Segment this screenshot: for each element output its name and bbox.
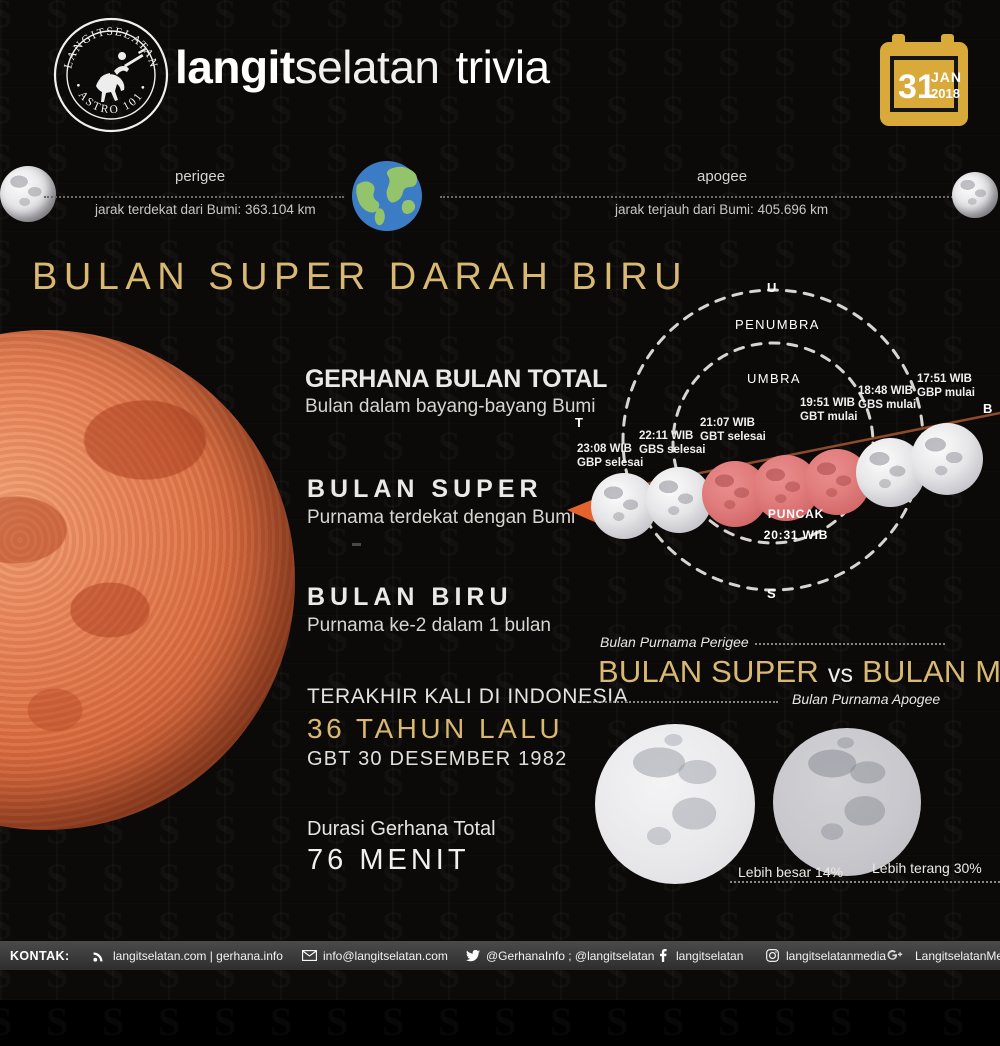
apogee-distance-line: [440, 196, 960, 198]
langitselatan-logo: LANGITSELATAN • ASTRO 101 •: [52, 16, 170, 134]
googleplus-icon: [885, 949, 909, 962]
compare-notes-dash: [730, 881, 1000, 883]
point-s-label: S: [767, 586, 776, 601]
perigee-moon-icon: [0, 166, 56, 222]
svg-text:JAN: JAN: [931, 69, 962, 85]
fact-sub: Purnama ke-2 dalam 1 bulan: [307, 615, 551, 637]
super-moon-disc: [595, 724, 755, 884]
brand-part-trivia: trivia: [456, 41, 550, 93]
perigee-distance-line: [44, 196, 344, 198]
facebook-icon: [655, 949, 670, 962]
phase-label-17-51: 17:51 WIBGBP mulai: [917, 373, 975, 400]
compare-bottom-caption: Bulan Purnama Apogee: [792, 691, 940, 707]
earth-icon: [352, 161, 422, 231]
footer-item-website[interactable]: langitselatan.com | gerhana.info: [92, 949, 283, 963]
svg-text:LANGITSELATAN: LANGITSELATAN: [62, 26, 159, 70]
peak-label: PUNCAK: [750, 507, 842, 521]
phase-label-21-07: 21:07 WIBGBT selesai: [700, 417, 766, 444]
eclipse-path-diagram: U S T B PENUMBRA UMBRA 23:08 WIBGBP sele…: [555, 275, 1000, 615]
eclipse-moon-17-51: [911, 423, 983, 495]
fact-bulan-biru: BULAN BIRU Purnama ke-2 dalam 1 bulan: [307, 583, 551, 637]
duration-heading: Durasi Gerhana Total: [307, 818, 496, 841]
apogee-moon-icon: [952, 172, 998, 218]
compare-top-dash: [755, 643, 945, 645]
phase-label-19-51: 19:51 WIBGBT mulai: [800, 397, 858, 424]
point-t-label: T: [575, 415, 583, 430]
note-size: Lebih besar 14%: [738, 864, 843, 880]
footer-item-text: langitselatan.com | gerhana.info: [113, 949, 283, 963]
brand-part-selatan: selatan: [295, 41, 440, 93]
duration-block: Durasi Gerhana Total 76 MENIT: [307, 818, 496, 877]
fact-heading: BULAN BIRU: [307, 583, 551, 612]
footer-item-text: langitselatan: [676, 949, 743, 963]
footer-item-text: info@langitselatan.com: [323, 949, 448, 963]
footer-item-googleplus[interactable]: LangitselatanMedia: [885, 949, 1000, 963]
brand-title: langitselatantrivia: [175, 40, 550, 94]
fact-heading: BULAN SUPER: [307, 475, 575, 504]
compare-title-vs: vs: [828, 660, 853, 688]
brand-part-langit: langit: [175, 41, 295, 93]
mini-moon-disc: [773, 728, 921, 876]
footer-item-text: langitselatanmedia: [786, 949, 886, 963]
compare-title: BULAN SUPER vs BULAN MINI: [598, 654, 1000, 690]
phase-label-23-08: 23:08 WIBGBP selesai: [577, 443, 643, 470]
umbra-label: UMBRA: [747, 371, 801, 386]
compare-title-left: BULAN SUPER: [598, 654, 819, 689]
compare-title-right: BULAN MINI: [862, 654, 1000, 689]
note-bright: Lebih terang 30%: [872, 860, 982, 876]
penumbra-label: PENUMBRA: [735, 317, 820, 332]
instagram-icon: [765, 949, 780, 962]
rss-icon: [92, 949, 107, 962]
apogee-detail: jarak terjauh dari Bumi: 405.696 km: [615, 202, 828, 217]
duration-value: 76 MENIT: [307, 844, 496, 877]
apogee-label: apogee: [697, 168, 747, 185]
decorative-dash: [352, 543, 361, 546]
peak-time: 20:31 WIB: [750, 528, 842, 542]
phase-label-22-11: 22:11 WIBGBS selesai: [639, 430, 705, 457]
footer-item-instagram[interactable]: langitselatanmedia: [765, 949, 886, 963]
footer-item-email[interactable]: info@langitselatan.com: [302, 949, 448, 963]
super-vs-mini-section: Bulan Purnama Perigee BULAN SUPER vs BUL…: [560, 632, 1000, 912]
footer-item-facebook[interactable]: langitselatan: [655, 949, 743, 963]
footer-contact-bar: KONTAK: langitselatan.com | gerhana.info…: [0, 941, 1000, 970]
perigee-label: perigee: [175, 168, 225, 185]
svg-text:2018: 2018: [931, 86, 960, 101]
calendar-icon: 31 JAN 2018: [878, 32, 970, 132]
footer-item-twitter[interactable]: @GerhanaInfo ; @langitselatan: [465, 949, 654, 963]
point-b-label: B: [983, 401, 992, 416]
footer-item-text: @GerhanaInfo ; @langitselatan: [486, 949, 654, 963]
footer-item-text: LangitselatanMedia: [915, 949, 1000, 963]
kontak-label: KONTAK:: [10, 949, 70, 963]
mail-icon: [302, 949, 317, 962]
fact-bulan-super: BULAN SUPER Purnama terdekat dengan Bumi: [307, 475, 575, 529]
fact-sub: Purnama terdekat dengan Bumi: [307, 507, 575, 529]
compare-top-caption: Bulan Purnama Perigee: [600, 634, 749, 650]
point-u-label: U: [767, 280, 776, 295]
compare-bottom-dash: [578, 701, 778, 703]
perigee-detail: jarak terdekat dari Bumi: 363.104 km: [95, 202, 316, 217]
twitter-icon: [465, 949, 480, 962]
blood-moon-image: [0, 330, 295, 830]
phase-label-18-48: 18:48 WIBGBS mulai: [858, 385, 916, 412]
